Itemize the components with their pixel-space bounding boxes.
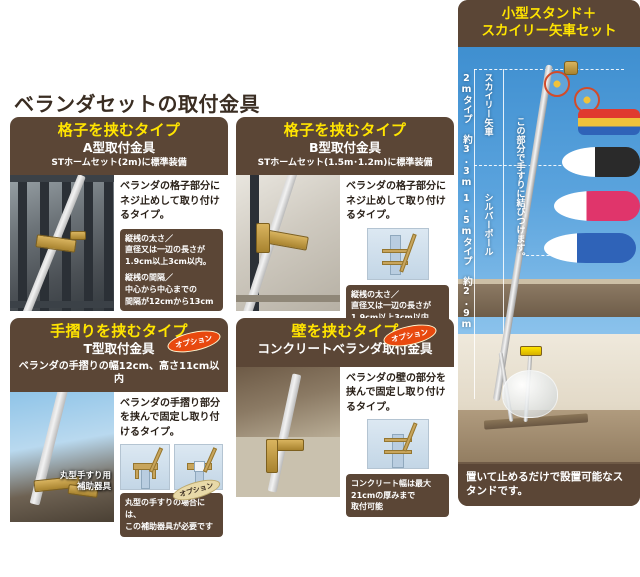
card-b-model: B型取付金具: [242, 140, 448, 156]
veranda-mount-section: ベランダセットの取付金具 格子を挟むタイプ A型取付金具 STホームセット(2m…: [0, 0, 455, 506]
card-t-sub: ベランダの手摺りの幅12cm、高さ11cm以内: [16, 360, 222, 386]
stand-caption: 置いて止めるだけで設置可能なスタンドです。: [458, 464, 640, 506]
measure-line-left: [474, 69, 475, 399]
card-a-type[interactable]: 格子を挟むタイプ A型取付金具 STホームセット(2m)に標準装備: [10, 117, 228, 310]
card-t-photo-label: 丸型手すり用 補助器具: [60, 471, 111, 493]
card-t-description: ベランダの手摺り部分を挟んで固定し取り付けるタイプ。: [120, 397, 223, 441]
card-t-diagram-row: オプション: [120, 444, 223, 490]
card-t-text: ベランダの手摺り部分を挟んで固定し取り付けるタイプ。: [114, 392, 228, 577]
card-a-header: 格子を挟むタイプ A型取付金具 STホームセット(2m)に標準装備: [10, 117, 228, 175]
card-b-diagram: [367, 228, 429, 280]
right-panel-title-line1: 小型スタンド＋: [462, 6, 636, 23]
label-2m-type: 2mタイプ 約3.3m: [461, 73, 471, 188]
right-panel-title-line2: スカイリー矢車セット: [462, 23, 636, 40]
card-b-type[interactable]: 格子を挟むタイプ B型取付金具 STホームセット(1.5m･1.2m)に標準装備…: [236, 117, 454, 310]
card-t-header: 手摺りを挟むタイプ オプション T型取付金具 ベランダの手摺りの幅12cm、高さ…: [10, 318, 228, 392]
label-15m-type: 1.5mタイプ 約2.9m: [461, 193, 471, 330]
label-silver-pole: シルバーポール: [482, 193, 491, 256]
stand-top-clamp: [520, 346, 542, 356]
stand-photo: 2mタイプ 約3.3m 1.5mタイプ 約2.9m スカイリー矢車 シルバーポー…: [458, 47, 640, 462]
card-a-description: ベランダの格子部分にネジ止めして取り付けるタイプ。: [120, 180, 223, 224]
card-wall-model: コンクリートベランダ取付金具: [242, 341, 448, 357]
card-a-type-label: 格子を挟むタイプ: [16, 122, 222, 139]
card-b-type-label: 格子を挟むタイプ: [242, 122, 448, 139]
card-wall-diagram: [367, 419, 429, 469]
card-wall-spec-box: コンクリート幅は最大 21cmの厚みまで 取付可能: [346, 474, 449, 517]
tie-pointer-line: [526, 255, 570, 256]
card-wall-spec-1: コンクリート幅は最大 21cmの厚みまで 取付可能: [351, 478, 444, 513]
card-t-diagram-1: [120, 444, 170, 490]
card-a-spec-1: 縦桟の太さ／ 直径又は一辺の長さが 1.9cm以上3cm以内。: [125, 233, 218, 268]
koinobori-flag-multicolor: [578, 109, 640, 135]
water-weight-bag: [502, 370, 558, 418]
balcony-railing: [458, 283, 640, 317]
label-yaguruma: スカイリー矢車: [482, 73, 491, 136]
koinobori-blue-carp: [544, 233, 636, 263]
card-t-photo: 丸型手すり用 補助器具: [10, 392, 114, 522]
koinobori-black-carp: [562, 147, 640, 177]
card-b-photo: [236, 175, 340, 311]
card-wall-description: ベランダの壁の部分を挟んで固定し取り付けるタイプ。: [346, 372, 449, 416]
card-t-type[interactable]: 手摺りを挟むタイプ オプション T型取付金具 ベランダの手摺りの幅12cm、高さ…: [10, 318, 228, 503]
card-b-description: ベランダの格子部分にネジ止めして取り付けるタイプ。: [346, 180, 449, 224]
page-title: ベランダセットの取付金具: [14, 88, 260, 117]
card-wall-header: 壁を挟むタイプ オプション コンクリートベランダ取付金具: [236, 318, 454, 367]
label-tie-to-railing: この部分で手すりに結びつけます。: [514, 117, 523, 261]
catalog-page: ベランダセットの取付金具 格子を挟むタイプ A型取付金具 STホームセット(2m…: [0, 0, 640, 506]
card-a-spec-box: 縦桟の太さ／ 直径又は一辺の長さが 1.9cm以上3cm以内。 縦桟の間隔／ 中…: [120, 229, 223, 312]
right-panel-header: 小型スタンド＋ スカイリー矢車セット: [458, 0, 640, 47]
koinobori-red-carp: [554, 191, 640, 221]
card-a-model: A型取付金具: [16, 140, 222, 156]
small-stand-section[interactable]: 小型スタンド＋ スカイリー矢車セット: [458, 0, 640, 506]
yaguruma-hub: [564, 61, 578, 75]
card-wall-text: ベランダの壁の部分を挟んで固定し取り付けるタイプ。 コンクリート幅は最大 21c…: [340, 367, 454, 552]
card-b-header: 格子を挟むタイプ B型取付金具 STホームセット(1.5m･1.2m)に標準装備: [236, 117, 454, 175]
card-wall-photo: [236, 367, 340, 497]
card-a-sub: STホームセット(2m)に標準装備: [16, 158, 222, 170]
card-b-sub: STホームセット(1.5m･1.2m)に標準装備: [242, 158, 448, 170]
card-t-note: 丸型の手すりの場合には、 この補助器具が必要です: [120, 493, 223, 537]
card-wall-type[interactable]: 壁を挟むタイプ オプション コンクリートベランダ取付金具 ベランダの壁の部分を挟…: [236, 318, 454, 503]
card-a-spec-2: 縦桟の間隔／ 中心から中心までの 間隔が12cmから13cm: [125, 272, 218, 307]
card-a-photo: [10, 175, 114, 311]
card-wall-body: ベランダの壁の部分を挟んで固定し取り付けるタイプ。 コンクリート幅は最大 21c…: [236, 367, 454, 552]
card-t-body: 丸型手すり用 補助器具 ベランダの手摺り部分を挟んで固定し取り付けるタイプ。: [10, 392, 228, 577]
railing-top-edge: [458, 279, 640, 284]
